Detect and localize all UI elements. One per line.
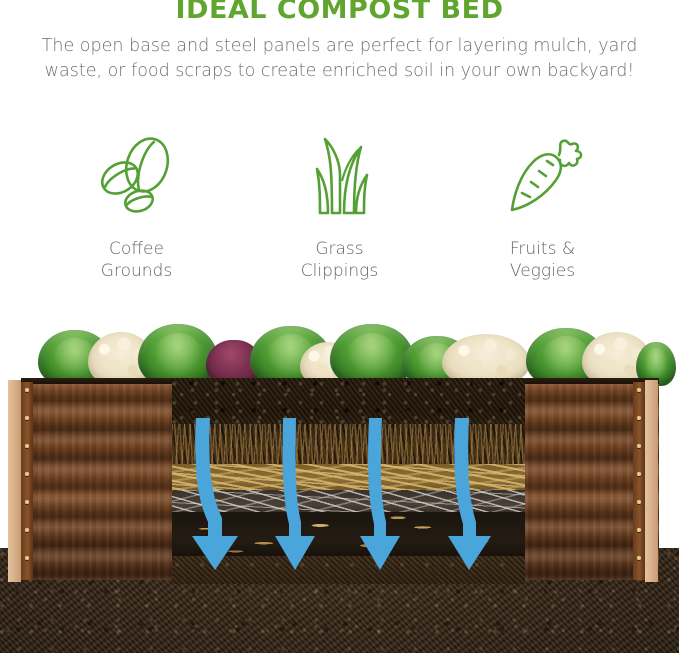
plant-cabbage <box>330 324 414 386</box>
screw-column-right <box>633 382 645 580</box>
feature-item-coffee-grounds: Coffee Grounds <box>35 132 238 282</box>
header: IDEAL COMPOST BED The open base and stee… <box>0 0 679 84</box>
feature-item-fruits-veggies: Fruits & Veggies <box>441 132 644 282</box>
corner-post-left <box>8 380 21 582</box>
feature-label-line1: Fruits & <box>441 238 644 260</box>
bed-panel-left <box>21 384 173 580</box>
feature-label-line1: Grass <box>238 238 441 260</box>
page-subtitle: The open base and steel panels are perfe… <box>0 34 679 84</box>
feature-label: Coffee Grounds <box>35 238 238 282</box>
corner-post-right <box>645 380 658 582</box>
coffee-beans-icon <box>35 132 238 224</box>
page-title: IDEAL COMPOST BED <box>0 0 679 30</box>
garden-bed-cutaway-photo <box>0 322 679 653</box>
feature-label-line2: Clippings <box>238 260 441 282</box>
drainage-arrow <box>443 418 503 576</box>
feature-label-line2: Grounds <box>35 260 238 282</box>
feature-label: Fruits & Veggies <box>441 238 644 282</box>
feature-label: Grass Clippings <box>238 238 441 282</box>
plant-cabbage <box>138 324 218 386</box>
drainage-arrow <box>358 418 412 576</box>
grass-blades-icon <box>238 132 441 224</box>
drainage-arrow <box>273 418 327 576</box>
feature-label-line2: Veggies <box>441 260 644 282</box>
feature-icon-row: Coffee Grounds Grass Clippings <box>0 132 679 282</box>
screw-column-left <box>21 382 33 580</box>
feature-item-grass-clippings: Grass Clippings <box>238 132 441 282</box>
feature-label-line1: Coffee <box>35 238 238 260</box>
product-feature-graphic: IDEAL COMPOST BED The open base and stee… <box>0 0 679 653</box>
drainage-arrow <box>186 418 250 576</box>
carrot-icon <box>441 132 644 224</box>
plants-row <box>10 322 670 386</box>
